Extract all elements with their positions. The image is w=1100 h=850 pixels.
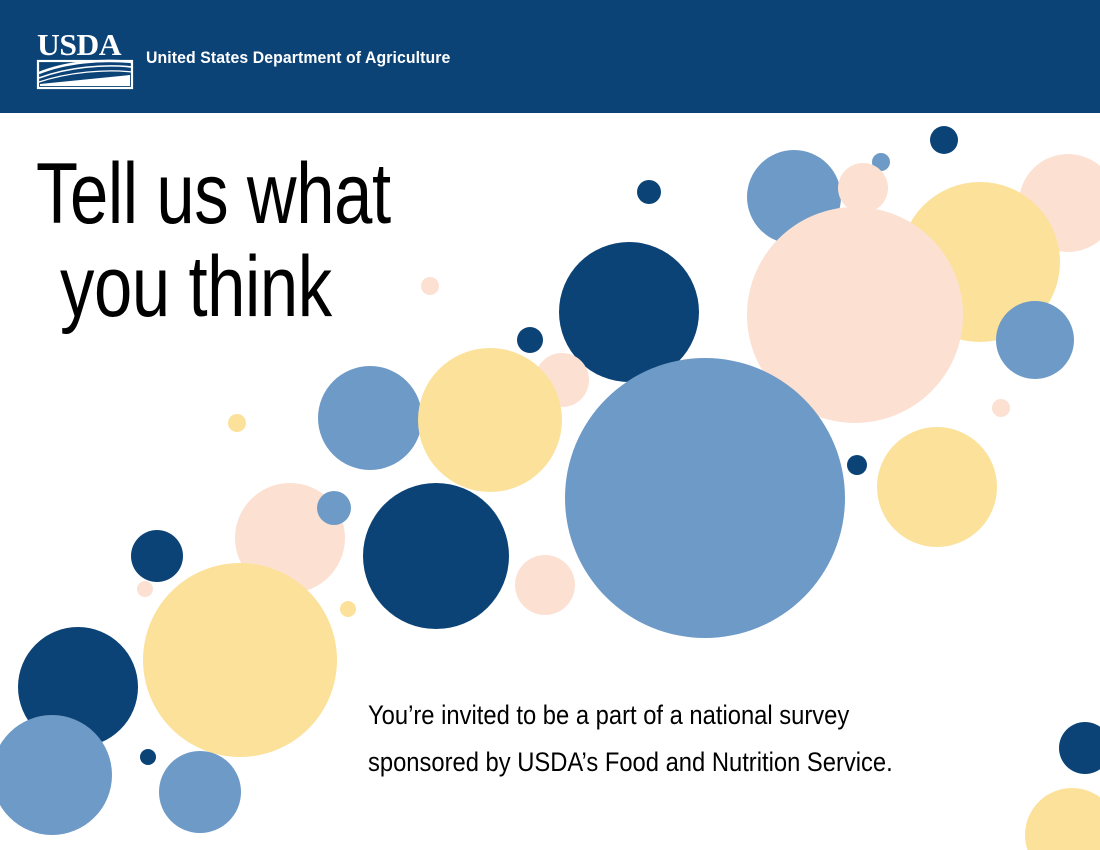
decorative-circle-navy <box>847 455 867 475</box>
decorative-circle-navy <box>363 483 509 629</box>
decorative-circle-navy <box>517 327 543 353</box>
decorative-circle-yellow <box>877 427 997 547</box>
page-title: Tell us whatyou think <box>36 148 391 334</box>
decorative-circle-blue <box>565 358 845 638</box>
decorative-circle-navy <box>1059 722 1100 774</box>
page-title-line-1: Tell us what <box>36 146 391 242</box>
svg-text:USDA: USDA <box>37 28 122 62</box>
agency-name-label: United States Department of Agriculture <box>146 48 450 68</box>
page-title-line-2: you think <box>36 241 391 334</box>
subtitle-line-2: sponsored by USDA’s Food and Nutrition S… <box>368 739 893 786</box>
decorative-circle-peach <box>137 581 153 597</box>
usda-header-band: USDA United States Department of Agricul… <box>0 0 1100 113</box>
subtitle-text: You’re invited to be a part of a nationa… <box>368 692 893 787</box>
subtitle-line-1: You’re invited to be a part of a nationa… <box>368 692 893 739</box>
decorative-circle-blue <box>159 751 241 833</box>
decorative-circle-yellow <box>228 414 246 432</box>
decorative-circle-peach <box>838 163 888 213</box>
slide-canvas: USDA United States Department of Agricul… <box>0 0 1100 850</box>
decorative-circle-yellow <box>418 348 562 492</box>
decorative-circle-peach <box>421 277 439 295</box>
decorative-circle-navy <box>131 530 183 582</box>
decorative-circle-blue <box>996 301 1074 379</box>
decorative-circle-navy <box>930 126 958 154</box>
decorative-circle-navy <box>140 749 156 765</box>
decorative-circle-yellow <box>1025 788 1100 850</box>
decorative-circle-blue <box>318 366 422 470</box>
decorative-circle-yellow <box>340 601 356 617</box>
decorative-circle-yellow <box>143 563 337 757</box>
decorative-circle-peach <box>992 399 1010 417</box>
usda-logo-icon: USDA <box>36 28 136 90</box>
decorative-circle-navy <box>637 180 661 204</box>
decorative-circle-blue <box>317 491 351 525</box>
decorative-circle-peach <box>515 555 575 615</box>
